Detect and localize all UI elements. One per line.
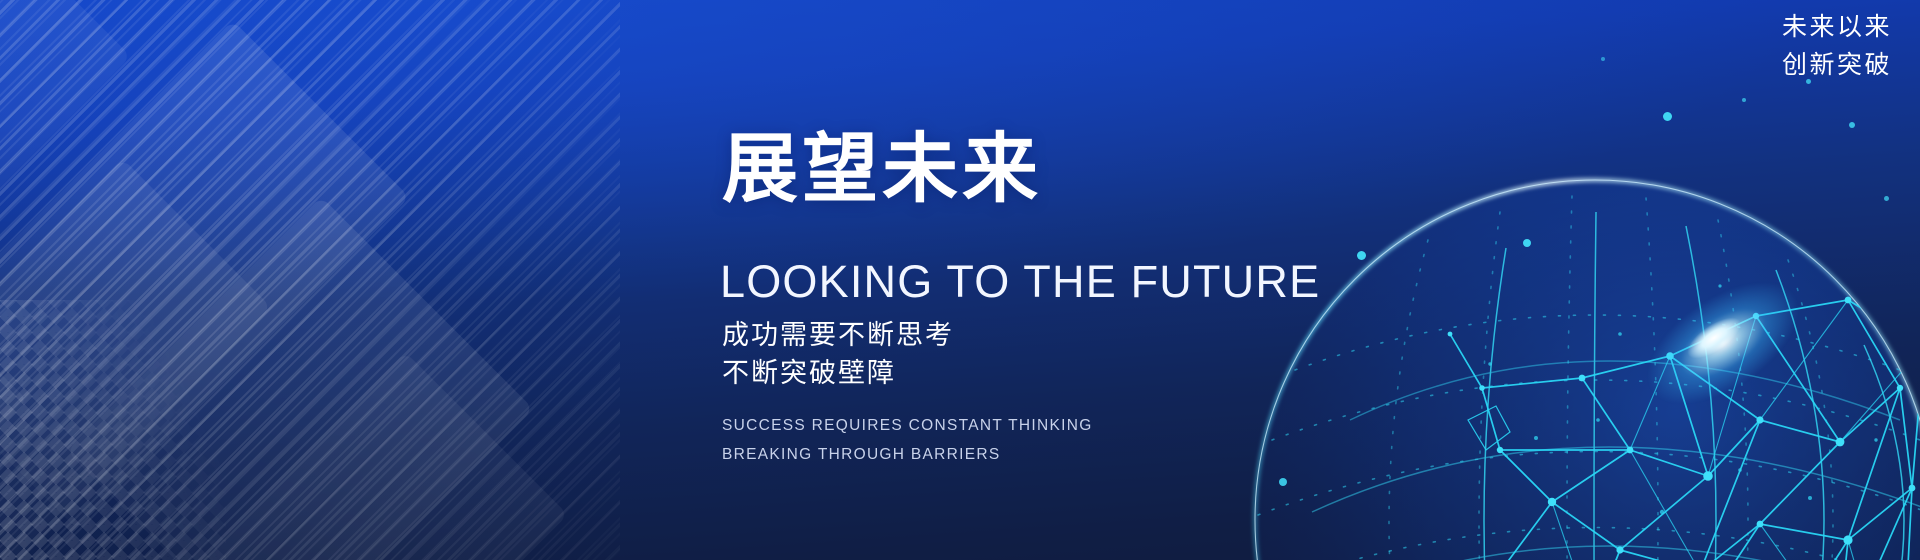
subtitle-english-line1: SUCCESS REQUIRES CONSTANT THINKING	[722, 412, 1093, 441]
subtitle-english: SUCCESS REQUIRES CONSTANT THINKING BREAK…	[722, 412, 1093, 469]
hero-banner: 未来以来 创新突破 展望未来 LOOKING TO THE FUTURE 成功需…	[0, 0, 1920, 560]
subtitle-chinese: 成功需要不断思考 不断突破壁障	[722, 317, 954, 394]
corner-slogan-line1: 未来以来	[1782, 8, 1892, 46]
headline-english: LOOKING TO THE FUTURE	[720, 259, 1320, 304]
subtitle-chinese-line2: 不断突破壁障	[722, 355, 954, 393]
subtitle-english-line2: BREAKING THROUGH BARRIERS	[722, 441, 1093, 470]
corner-slogan-line2: 创新突破	[1782, 46, 1892, 84]
banner-content: 未来以来 创新突破 展望未来 LOOKING TO THE FUTURE 成功需…	[0, 0, 1920, 560]
subtitle-chinese-line1: 成功需要不断思考	[722, 317, 954, 355]
corner-slogan: 未来以来 创新突破	[1782, 8, 1892, 83]
headline-chinese: 展望未来	[722, 131, 1042, 207]
